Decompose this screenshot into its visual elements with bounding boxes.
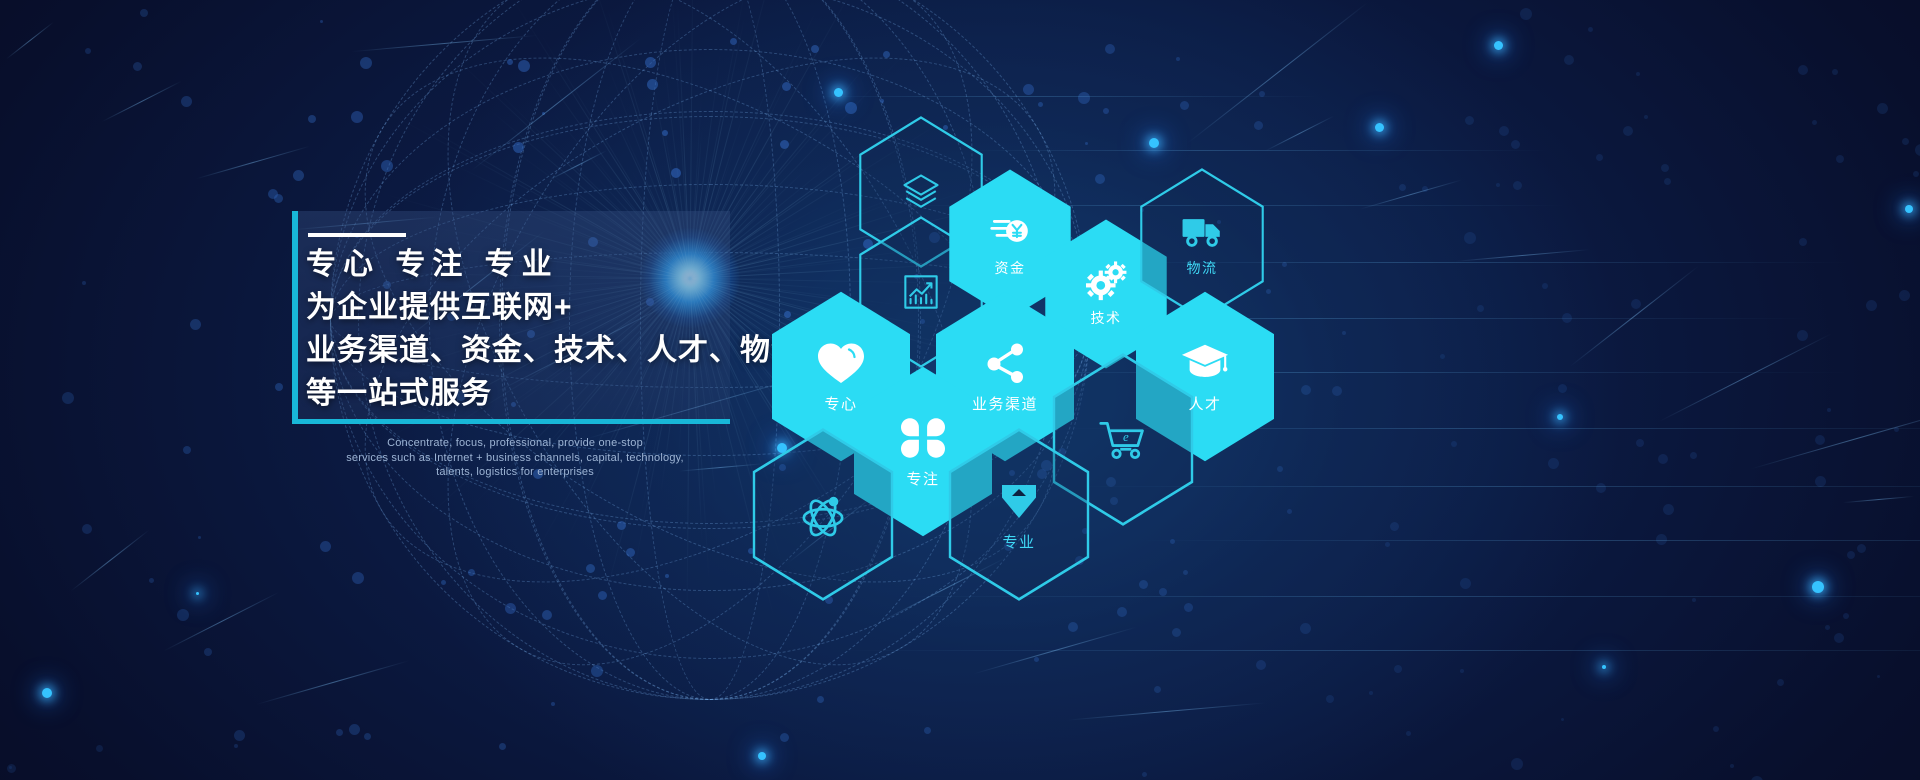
bar-chart-up-icon — [899, 272, 943, 312]
hexagon-cluster: 资金技术物流专心业务渠道人才专注e专业 — [0, 0, 1920, 780]
share-nodes-icon — [980, 340, 1030, 386]
hero-banner: 专心 专注 专业 为企业提供互联网+ 业务渠道、资金、技术、人才、物流 等一站式… — [0, 0, 1920, 780]
graduation-cap-icon — [1180, 340, 1230, 386]
money-yen-icon — [988, 211, 1032, 251]
hex-label-yewu: 业务渠道 — [972, 393, 1038, 414]
gears-icon — [1084, 261, 1128, 301]
hex-label-wuliu: 物流 — [1187, 258, 1218, 278]
hex-label-zhuanxin: 专心 — [824, 393, 857, 414]
layers-icon — [899, 172, 943, 212]
clover-icon — [898, 415, 948, 461]
hex-label-zhuanzhu: 专注 — [906, 468, 939, 489]
hex-label-zhuanye: 专业 — [1002, 531, 1035, 552]
diamond-icon — [994, 478, 1044, 524]
shopping-cart-e-icon: e — [1098, 417, 1148, 463]
hex-label-zijin: 资金 — [995, 258, 1026, 278]
truck-icon — [1180, 211, 1224, 251]
hex-label-rencai: 人才 — [1188, 393, 1221, 414]
hex-label-jishu: 技术 — [1091, 308, 1122, 328]
atom-icon — [798, 492, 848, 538]
svg-text:e: e — [1123, 428, 1129, 443]
heart-icon — [816, 340, 866, 386]
